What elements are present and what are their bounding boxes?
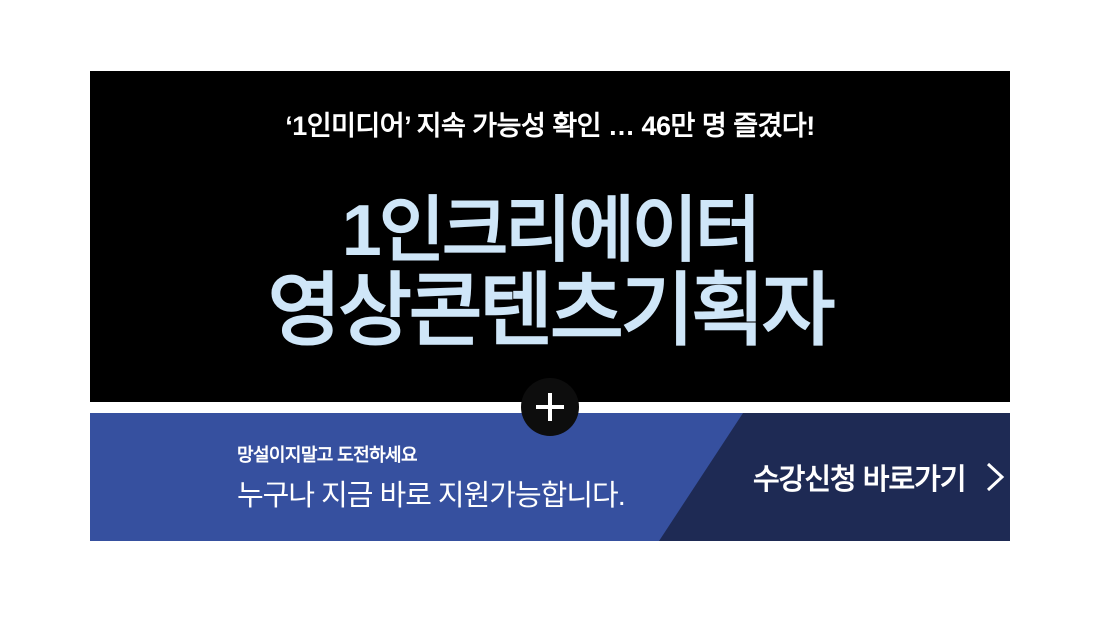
- plus-icon-vertical-bar: [548, 393, 552, 421]
- hero-title-line-2: 영상콘텐츠기획자: [90, 271, 1010, 351]
- hero-title: 1인크리에이터 영상콘텐츠기획자: [90, 191, 1010, 351]
- cta-eyebrow-text: 망설이지말고 도전하세요: [237, 441, 625, 467]
- promo-banner[interactable]: ‘1인미디어’ 지속 가능성 확인 … 46만 명 즐겼다! 1인크리에이터 영…: [90, 71, 1010, 541]
- cta-message-group: 망설이지말고 도전하세요 누구나 지금 바로 지원가능합니다.: [237, 413, 625, 541]
- hero-title-line-1: 1인크리에이터: [90, 191, 1010, 271]
- chevron-right-triple-icon: [984, 460, 1011, 494]
- hero-kicker-text: ‘1인미디어’ 지속 가능성 확인 … 46만 명 즐겼다!: [90, 104, 1010, 143]
- apply-now-label: 수강신청 바로가기: [753, 456, 966, 498]
- apply-now-button[interactable]: 수강신청 바로가기: [753, 413, 1010, 541]
- hero-section: ‘1인미디어’ 지속 가능성 확인 … 46만 명 즐겼다! 1인크리에이터 영…: [90, 71, 1010, 402]
- cta-headline-text: 누구나 지금 바로 지원가능합니다.: [237, 472, 625, 514]
- plus-icon[interactable]: [521, 378, 579, 436]
